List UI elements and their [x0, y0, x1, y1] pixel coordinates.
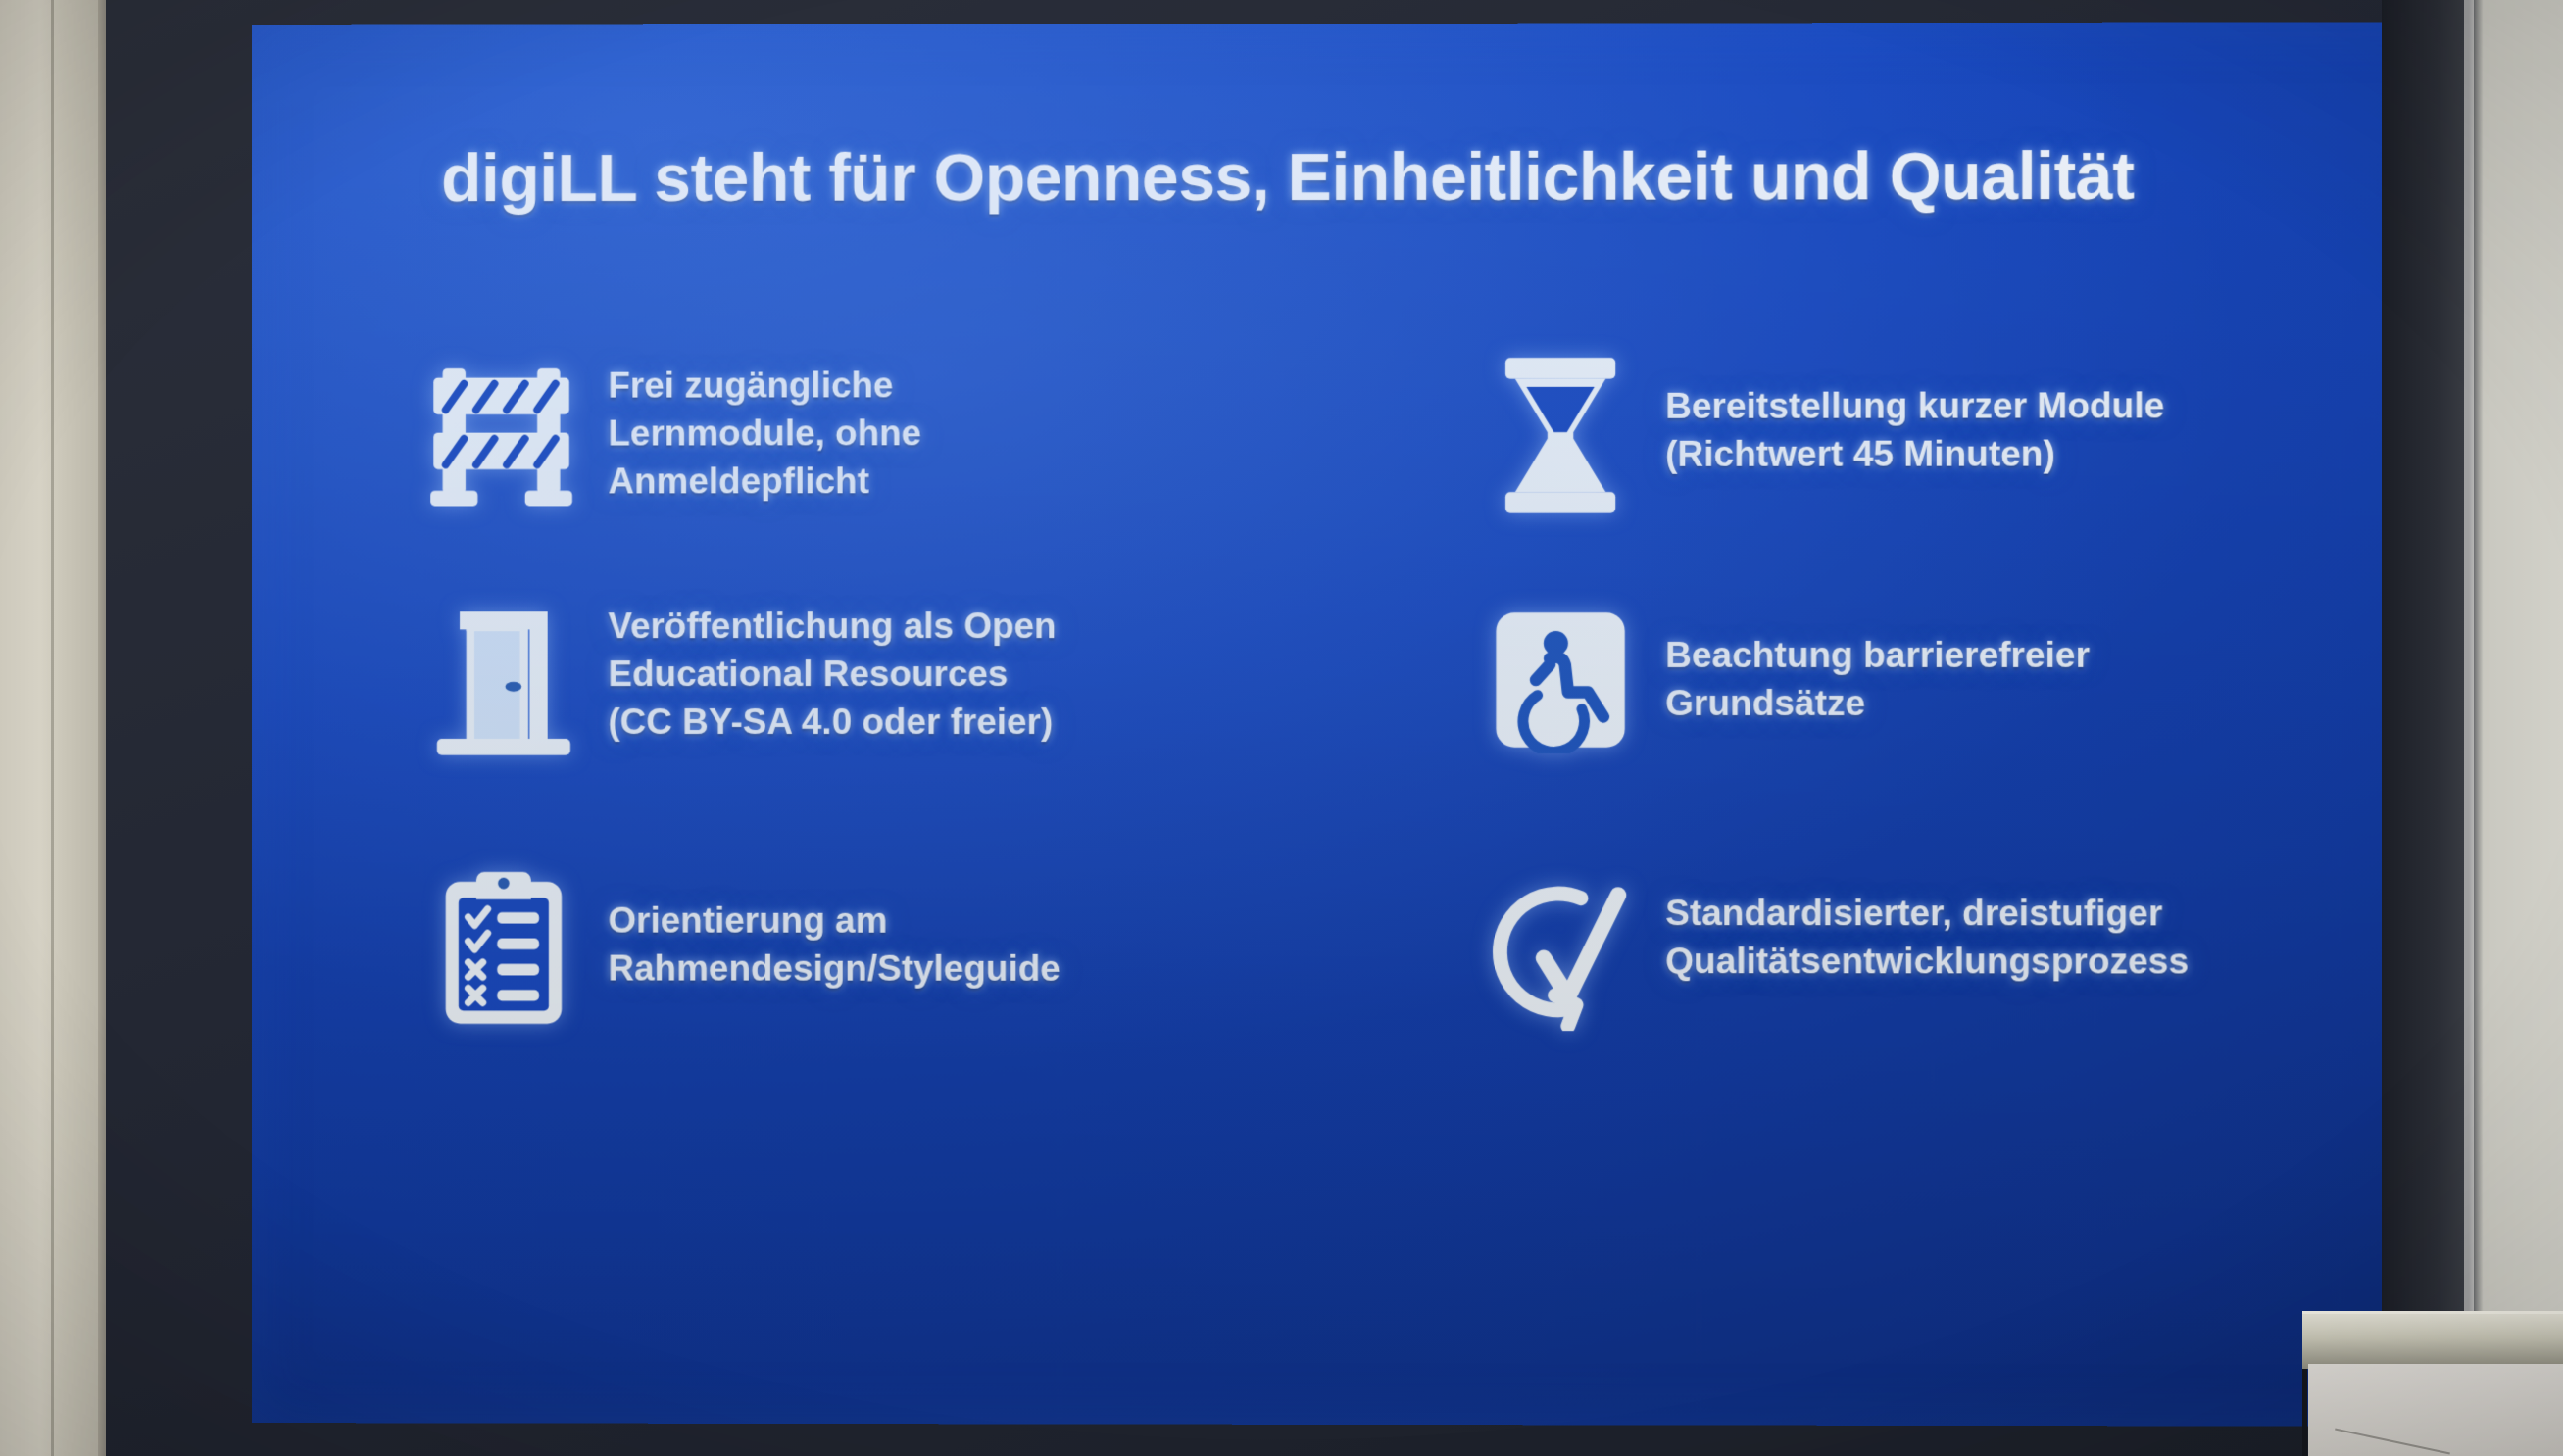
- wall-highlight: [2464, 0, 2474, 1313]
- road-barrier-icon: [398, 348, 608, 524]
- bullet-label: Bereitstellung kurzer Module (Richtwert …: [1665, 371, 2164, 478]
- bullet-item-veroeffentlichung: Veröffentlichung als Open Educational Re…: [398, 592, 1454, 768]
- bullet-line: Bereitstellung kurzer Module: [1665, 381, 2164, 430]
- paper-crease: [2335, 1429, 2450, 1455]
- bullet-line: (CC BY-SA 4.0 oder freier): [608, 698, 1056, 746]
- open-door-icon: [398, 592, 608, 768]
- bullet-line: Frei zugängliche: [608, 361, 921, 409]
- bullet-label: Orientierung am Rahmendesign/Styleguide: [608, 887, 1060, 994]
- projection-screen-frame: digiLL steht für Openness, Einheitlichke…: [106, 0, 2457, 1456]
- bullet-row: Veröffentlichung als Open Educational Re…: [398, 592, 2407, 862]
- bullet-line: (Richtwert 45 Minuten): [1665, 430, 2164, 479]
- projection-scene: digiLL steht für Openness, Einheitlichke…: [0, 0, 2563, 1456]
- bullet-row: Frei zugängliche Lernmodule, ohne Anmeld…: [398, 346, 2407, 592]
- bullet-item-frei-zugaengliche: Frei zugängliche Lernmodule, ohne Anmeld…: [398, 347, 1454, 524]
- bullet-label: Standardisierter, dreistufiger Qualitäts…: [1665, 879, 2189, 986]
- bullet-line: Rahmendesign/Styleguide: [608, 945, 1060, 993]
- bullet-line: Educational Resources: [608, 650, 1056, 698]
- wall-seam: [51, 0, 54, 1456]
- slide-title: digiLL steht für Openness, Einheitlichke…: [441, 138, 2401, 218]
- bullet-item-orientierung: Orientierung am Rahmendesign/Styleguide: [398, 861, 1454, 1038]
- bullet-row: Orientierung am Rahmendesign/Styleguide: [398, 861, 2407, 1107]
- bullet-grid: Frei zugängliche Lernmodule, ohne Anmeld…: [398, 346, 2407, 1107]
- flipchart-board: [2302, 1311, 2563, 1456]
- bullet-label: Frei zugängliche Lernmodule, ohne Anmeld…: [608, 351, 921, 506]
- clipboard-checklist-icon: [398, 861, 608, 1038]
- bullet-label: Beachtung barrierefreier Grundsätze: [1665, 621, 2090, 728]
- bullet-label: Veröffentlichung als Open Educational Re…: [608, 592, 1056, 746]
- bullet-line: Orientierung am: [608, 897, 1060, 945]
- flipchart-tray: [2302, 1311, 2563, 1369]
- bullet-item-qualitaetsprozess: Standardisierter, dreistufiger Qualitäts…: [1454, 861, 2408, 1039]
- wall-edge: [98, 0, 106, 1456]
- wheelchair-accessibility-icon: [1454, 592, 1665, 768]
- hourglass-icon: [1454, 347, 1665, 523]
- bullet-line: Standardisierter, dreistufiger: [1665, 889, 2189, 938]
- left-wall-strip: [0, 0, 106, 1456]
- bullet-line: Anmeldepflicht: [608, 458, 921, 506]
- right-wall-corner: [2382, 0, 2563, 1313]
- bullet-line: Beachtung barrierefreier: [1665, 631, 2090, 679]
- bullet-line: Qualitätsentwicklungsprozess: [1665, 937, 2189, 986]
- bullet-item-bereitstellung: Bereitstellung kurzer Module (Richtwert …: [1454, 346, 2408, 523]
- bullet-item-barrierefreiheit: Beachtung barrierefreier Grundsätze: [1454, 592, 2408, 768]
- bullet-line: Lernmodule, ohne: [608, 410, 921, 458]
- bullet-line: Veröffentlichung als Open: [608, 602, 1056, 650]
- flipchart-paper: [2308, 1364, 2563, 1456]
- bullet-line: Grundsätze: [1665, 679, 2090, 727]
- presentation-slide: digiLL steht für Openness, Einheitlichke…: [252, 22, 2504, 1427]
- check-cycle-icon: [1454, 861, 1665, 1038]
